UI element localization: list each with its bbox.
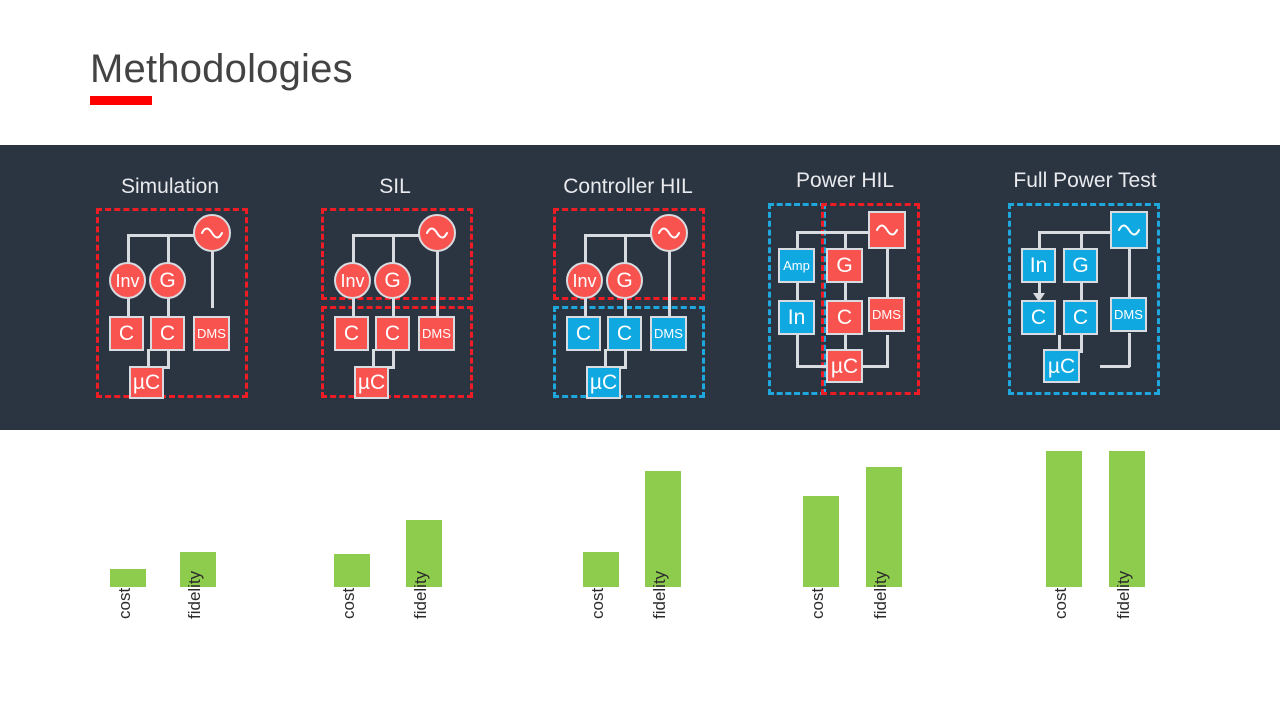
wire: [1080, 283, 1083, 300]
diagram-full-power-test: In G C C DMS µC: [1008, 203, 1166, 398]
node-dms-sil[interactable]: DMS: [418, 316, 455, 351]
node-amplifier-power-hil[interactable]: Amp: [778, 248, 815, 283]
wire: [1128, 249, 1131, 297]
node-converter2-full-power-test[interactable]: C: [1063, 300, 1098, 335]
slide-root: Methodologies Simulation SIL Controller …: [0, 0, 1280, 720]
wire: [352, 234, 355, 264]
node-microcontroller-simulation[interactable]: µC: [129, 366, 164, 399]
node-source-sil[interactable]: [418, 214, 456, 252]
bar-power-hil-cost: [803, 496, 839, 587]
bar-label-simulation-cost: cost: [115, 588, 135, 619]
node-converter1-full-power-test[interactable]: C: [1021, 300, 1056, 335]
wire: [584, 234, 587, 264]
node-dms-power-hil[interactable]: DMS: [868, 297, 905, 332]
bar-full-power-test-cost: [1046, 451, 1082, 587]
bar-label-sil-cost: cost: [339, 588, 359, 619]
node-generator-power-hil[interactable]: G: [826, 248, 863, 283]
diagram-panel: Simulation SIL Controller HIL Power HIL …: [0, 145, 1280, 430]
bar-label-power-hil-cost: cost: [808, 588, 828, 619]
wire: [1128, 333, 1131, 367]
column-title-controller-hil: Controller HIL: [533, 175, 723, 199]
column-title-full-power-test: Full Power Test: [995, 169, 1175, 193]
wire: [886, 335, 889, 367]
bar-controller-hil-cost: [583, 552, 619, 587]
bar-label-simulation-fidelity: fidelity: [185, 571, 205, 619]
page-title: Methodologies: [90, 47, 353, 92]
wire: [796, 335, 799, 367]
node-generator-full-power-test[interactable]: G: [1063, 248, 1098, 283]
wire: [1100, 365, 1130, 368]
diagram-simulation: Inv G C C DMS µC: [96, 208, 251, 398]
wire: [167, 234, 170, 264]
bar-full-power-test-fidelity: [1109, 451, 1145, 587]
diagram-power-hil: Amp In G C DMS µC: [768, 203, 923, 398]
node-inv-sil[interactable]: Inv: [334, 262, 371, 299]
node-generator-sil[interactable]: G: [374, 262, 411, 299]
wire: [886, 249, 889, 297]
bar-label-full-power-test-fidelity: fidelity: [1114, 571, 1134, 619]
node-microcontroller-sil[interactable]: µC: [354, 366, 389, 399]
bar-label-power-hil-fidelity: fidelity: [871, 571, 891, 619]
node-converter-power-hil[interactable]: C: [826, 300, 863, 335]
bar-label-controller-hil-cost: cost: [588, 588, 608, 619]
node-converter1-simulation[interactable]: C: [109, 316, 144, 351]
node-input-power-hil[interactable]: In: [778, 300, 815, 335]
node-converter2-sil[interactable]: C: [375, 316, 410, 351]
wire: [392, 234, 395, 264]
wire: [127, 234, 130, 264]
node-microcontroller-power-hil[interactable]: µC: [826, 349, 863, 383]
wire: [861, 365, 889, 368]
node-converter1-sil[interactable]: C: [334, 316, 369, 351]
node-dms-full-power-test[interactable]: DMS: [1110, 297, 1147, 332]
node-source-simulation[interactable]: [193, 214, 231, 252]
node-source-controller-hil[interactable]: [650, 214, 688, 252]
column-title-power-hil: Power HIL: [755, 169, 935, 193]
diagram-sil: Inv G C C DMS µC: [321, 208, 476, 398]
wire: [211, 248, 214, 308]
sine-wave-icon: [1118, 223, 1140, 237]
bar-controller-hil-fidelity: [645, 471, 681, 587]
column-title-sil: SIL: [305, 175, 485, 199]
node-generator-controller-hil[interactable]: G: [606, 262, 643, 299]
column-title-simulation: Simulation: [80, 175, 260, 199]
node-converter2-simulation[interactable]: C: [150, 316, 185, 351]
sine-wave-icon: [426, 226, 448, 240]
node-converter2-controller-hil[interactable]: C: [607, 316, 642, 351]
bar-sil-cost: [334, 554, 370, 587]
node-converter1-controller-hil[interactable]: C: [566, 316, 601, 351]
bar-label-sil-fidelity: fidelity: [411, 571, 431, 619]
node-source-full-power-test[interactable]: [1110, 211, 1148, 249]
node-generator-simulation[interactable]: G: [149, 262, 186, 299]
node-source-power-hil[interactable]: [868, 211, 906, 249]
node-dms-simulation[interactable]: DMS: [193, 316, 230, 351]
bar-power-hil-fidelity: [866, 467, 902, 587]
bar-simulation-cost: [110, 569, 146, 587]
node-input-full-power-test[interactable]: In: [1021, 248, 1056, 283]
sine-wave-icon: [658, 226, 680, 240]
node-microcontroller-full-power-test[interactable]: µC: [1043, 349, 1080, 383]
wire: [436, 248, 439, 316]
diagram-controller-hil: Inv G C C DMS µC: [553, 208, 708, 398]
node-inv-controller-hil[interactable]: Inv: [566, 262, 603, 299]
wire: [668, 248, 671, 316]
wire: [624, 234, 627, 264]
node-microcontroller-controller-hil[interactable]: µC: [586, 366, 621, 399]
sine-wave-icon: [876, 223, 898, 237]
bar-label-full-power-test-cost: cost: [1051, 588, 1071, 619]
bar-chart: costfidelitycostfidelitycostfidelitycost…: [0, 430, 1280, 720]
node-dms-controller-hil[interactable]: DMS: [650, 316, 687, 351]
node-inv-simulation[interactable]: Inv: [109, 262, 146, 299]
title-accent-underline: [90, 96, 152, 105]
slide-header: Methodologies: [0, 0, 1280, 145]
bar-label-controller-hil-fidelity: fidelity: [650, 571, 670, 619]
sine-wave-icon: [201, 226, 223, 240]
